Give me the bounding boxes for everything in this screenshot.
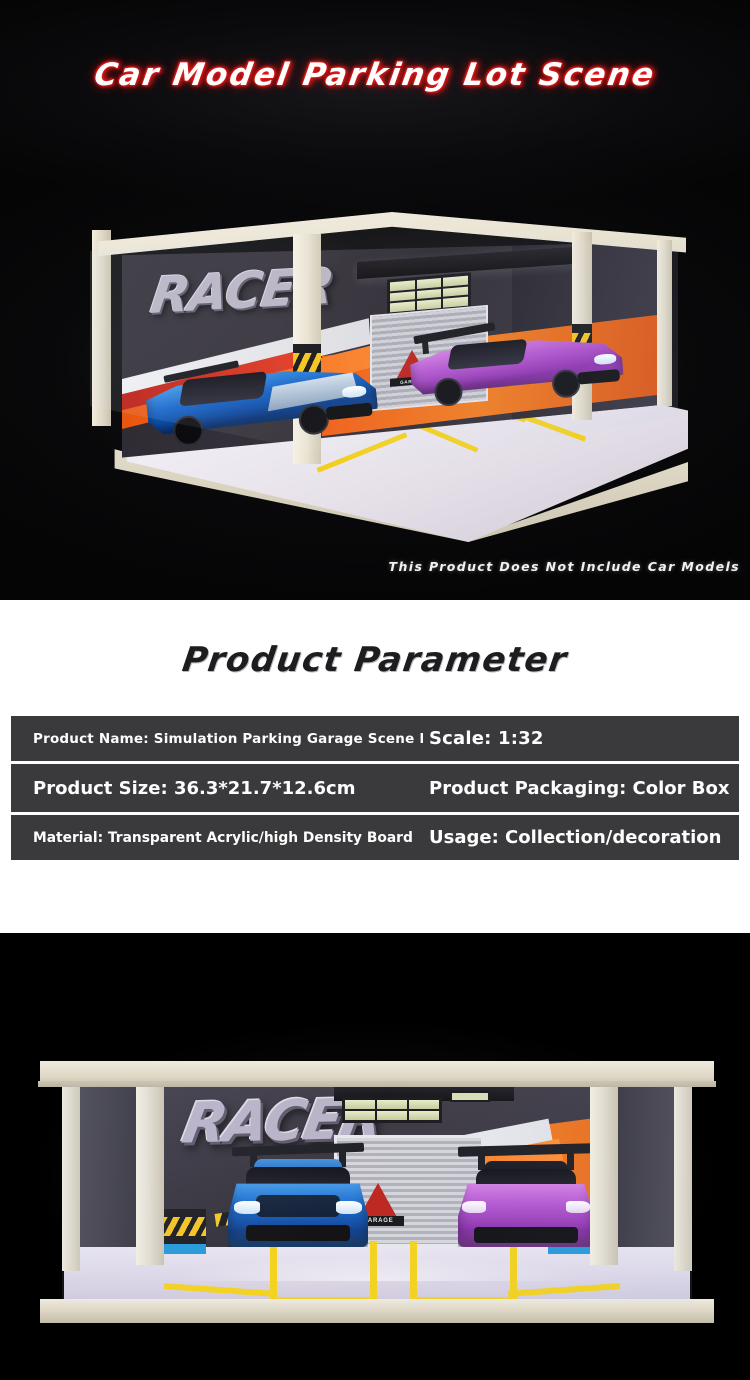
purple-sports-car [458, 1143, 594, 1257]
section-heading: Product Parameter [0, 640, 750, 680]
diorama-corner-post [92, 230, 111, 426]
table-row: Material: Transparent Acrylic/high Densi… [11, 815, 739, 860]
diorama-corner-post [657, 240, 672, 406]
car-headlight [566, 1201, 590, 1213]
product-listing-page: Car Model Parking Lot Scene RACER [0, 0, 750, 1380]
product-parameter-section: Product Parameter Product Name: Simulati… [0, 600, 750, 933]
car-hood-vent [256, 1195, 340, 1217]
led-panel-icon [342, 1097, 442, 1123]
param-material: Material: Transparent Acrylic/high Densi… [11, 830, 423, 846]
car-grille [577, 369, 620, 385]
car-grille [246, 1225, 350, 1241]
car-headlight [462, 1201, 486, 1213]
param-packaging: Product Packaging: Color Box [423, 778, 739, 799]
car-headlight [336, 1201, 362, 1214]
diorama-left-pillar [136, 1085, 164, 1265]
hero-diorama-image: RACER GARAGE [78, 212, 688, 542]
diorama-base-plinth [40, 1299, 714, 1323]
blue-sports-car [228, 1139, 368, 1257]
param-product-size: Product Size: 36.3*21.7*12.6cm [11, 778, 423, 799]
car-headlight [234, 1201, 260, 1214]
hero-section: Car Model Parking Lot Scene RACER [0, 0, 750, 600]
page-title: Car Model Parking Lot Scene [0, 57, 750, 93]
front-view-section: RACER GARAGE [0, 933, 750, 1380]
led-panel-small-icon [450, 1091, 490, 1102]
param-scale: Scale: 1:32 [423, 728, 739, 749]
table-row: Product Name: Simulation Parking Garage … [11, 716, 739, 761]
car-wing-support [567, 1152, 574, 1170]
diorama-left-post [62, 1081, 80, 1271]
diorama-right-post [674, 1081, 692, 1271]
diorama-right-pillar [590, 1085, 618, 1265]
param-product-name: Product Name: Simulation Parking Garage … [11, 731, 423, 747]
parameter-table: Product Name: Simulation Parking Garage … [11, 716, 739, 860]
table-row: Product Size: 36.3*21.7*12.6cm Product P… [11, 764, 739, 812]
car-grille [474, 1227, 578, 1243]
param-usage: Usage: Collection/decoration [423, 827, 739, 848]
diorama-roof-slab [40, 1061, 714, 1087]
front-view-diorama-image: RACER GARAGE [38, 1061, 716, 1291]
disclaimer-text: This Product Does Not Include Car Models [389, 559, 740, 574]
